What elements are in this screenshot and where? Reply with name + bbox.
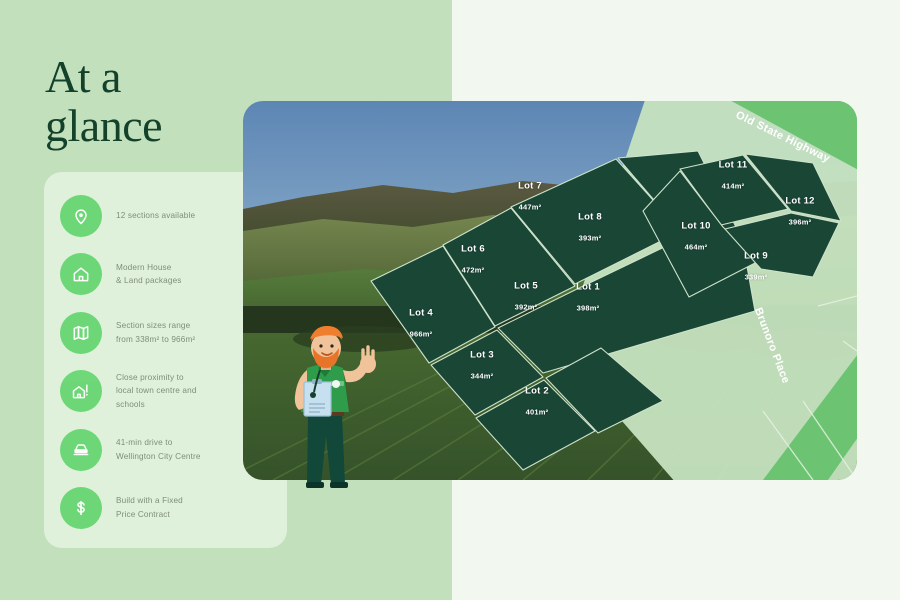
feature-item-sections-available[interactable]: 12 sections available	[60, 192, 269, 240]
feature-item-label: Modern House & Land packages	[116, 261, 182, 288]
feature-item-label: 12 sections available	[116, 209, 195, 223]
feature-item-section-sizes[interactable]: Section sizes range from 338m² to 966m²	[60, 309, 269, 357]
feature-item-label: Section sizes range from 338m² to 966m²	[116, 319, 195, 346]
subdivision-map-card[interactable]: Lot 1 398m² Lot 2 401m² Lot 3 344m² Lot …	[243, 101, 857, 480]
map-icon	[60, 312, 102, 354]
feature-item-drive-time[interactable]: 41-min drive to Wellington City Centre	[60, 426, 269, 474]
slide-canvas: At a glance 12 sections available Modern…	[0, 0, 900, 600]
location-pin-icon	[60, 195, 102, 237]
feature-item-label: Build with a Fixed Price Contract	[116, 494, 183, 521]
car-icon	[60, 429, 102, 471]
feature-item-fixed-price[interactable]: Build with a Fixed Price Contract	[60, 484, 269, 532]
page-title: At a glance	[45, 52, 275, 150]
feature-item-label: 41-min drive to Wellington City Centre	[116, 436, 201, 463]
dollar-icon	[60, 487, 102, 529]
lot-plan-overlay	[243, 101, 857, 480]
feature-item-town-proximity[interactable]: Close proximity to local town centre and…	[60, 367, 269, 415]
house-icon	[60, 253, 102, 295]
feature-item-house-and-land[interactable]: Modern House & Land packages	[60, 250, 269, 298]
feature-item-label: Close proximity to local town centre and…	[116, 371, 197, 412]
house-school-icon	[60, 370, 102, 412]
